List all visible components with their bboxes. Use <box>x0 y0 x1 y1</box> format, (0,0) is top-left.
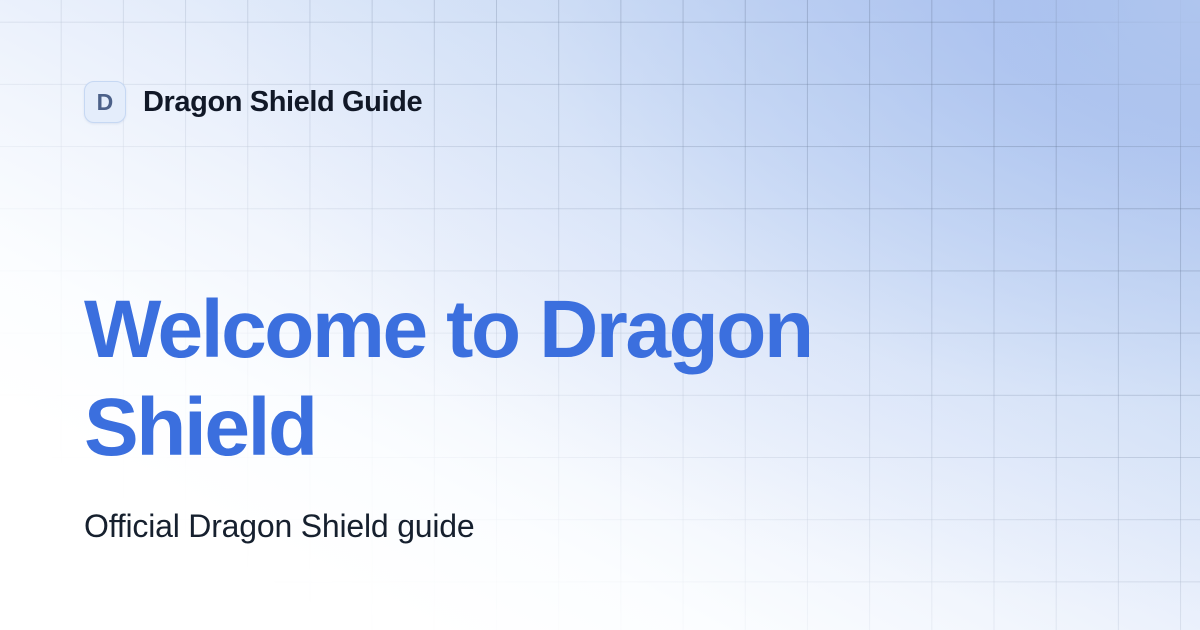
page-subtitle: Official Dragon Shield guide <box>84 477 984 546</box>
page-title: Welcome to Dragon Shield <box>84 281 974 477</box>
brand-header: D Dragon Shield Guide <box>84 81 422 123</box>
hero-section: Welcome to Dragon Shield Official Dragon… <box>84 281 984 546</box>
brand-logo-letter: D <box>97 91 114 114</box>
brand-title: Dragon Shield Guide <box>143 88 422 117</box>
card-content: D Dragon Shield Guide Welcome to Dragon … <box>0 0 1200 630</box>
og-card-canvas: D Dragon Shield Guide Welcome to Dragon … <box>0 0 1200 630</box>
brand-logo-badge: D <box>84 81 126 123</box>
